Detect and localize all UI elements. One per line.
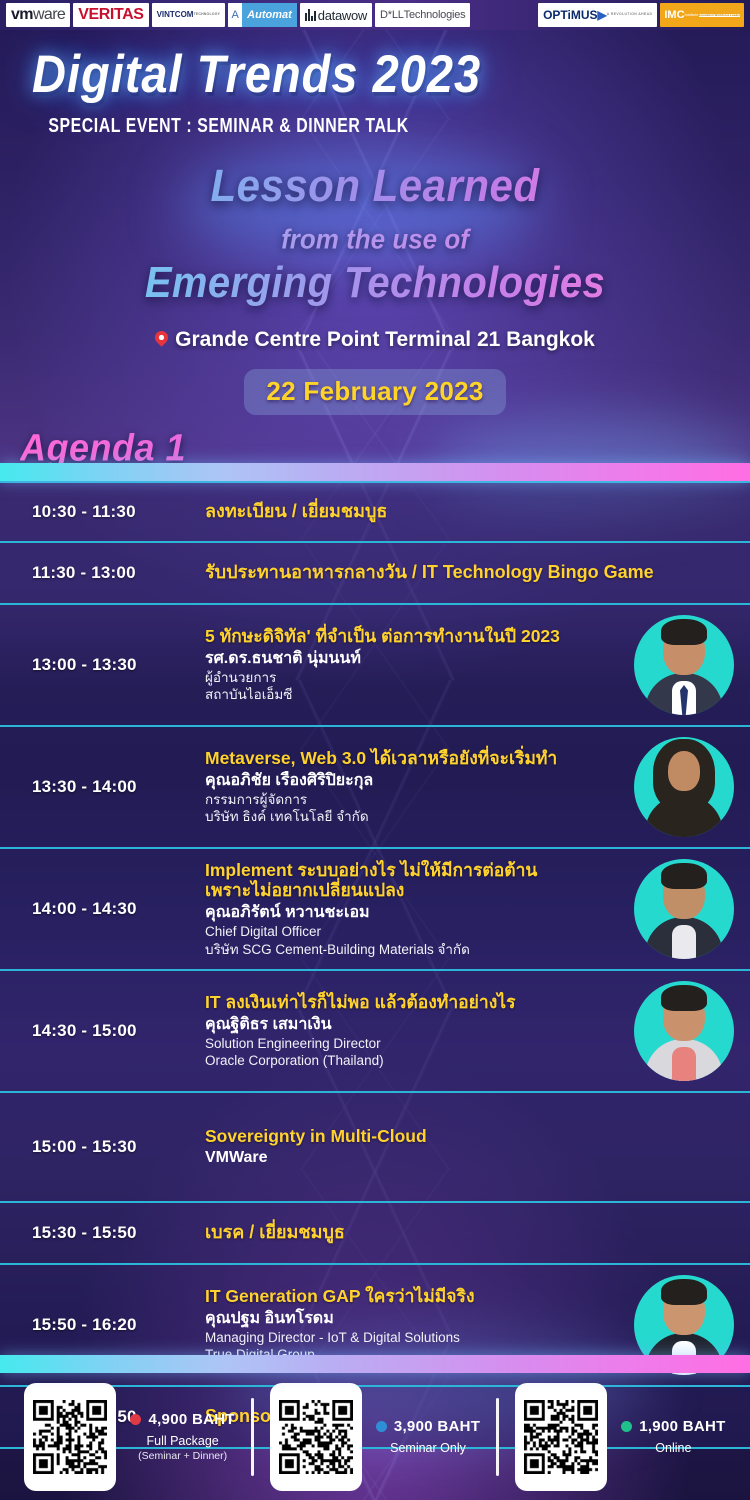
datawow-logo: datawow <box>300 3 372 27</box>
agenda-row-speaker-name: VMWare <box>205 1148 742 1168</box>
ticket-price-line: 4,900 BAHT <box>130 1411 234 1428</box>
agenda-row: 10:30 - 11:30ลงทะเบียน / เยี่ยมชมบูธ <box>0 481 750 543</box>
agenda-row-time: 14:00 - 14:30 <box>0 899 205 919</box>
event-subtitle: SPECIAL EVENT : SEMINAR & DINNER TALK <box>48 115 735 139</box>
sponsor-logo-bar: vmvmwareware VERITAS VINTCOM TECHNOLOGY … <box>0 0 750 30</box>
agenda-row-topic: Sovereignty in Multi-Cloud <box>205 1126 742 1147</box>
dell-logo-text: D*LL <box>380 9 404 21</box>
agenda-row-time: 11:30 - 13:00 <box>0 563 205 583</box>
vmware-logo: vmvmwareware <box>6 3 70 27</box>
agenda-row-speaker-name: คุณปฐม อินทโรดม <box>205 1309 626 1329</box>
agenda-row-topic: รับประทานอาหารกลางวัน / IT Technology Bi… <box>205 562 742 583</box>
headline-emerging-technologies: Emerging Technologies <box>0 259 750 308</box>
agenda-row-topic: Metaverse, Web 3.0 ได้เวลาหรือยังที่จะเร… <box>205 748 626 769</box>
agenda-row-body: ลงทะเบียน / เยี่ยมชมบูธ <box>205 501 750 522</box>
gradient-divider-bottom <box>0 1355 750 1373</box>
ticket-price-line: 1,900 BAHT <box>621 1418 725 1435</box>
agenda-row-speaker-role: Chief Digital Officer <box>205 923 626 941</box>
automat-logo-prefix: A <box>228 3 242 27</box>
vintcom-logo-sub: TECHNOLOGY <box>193 13 220 17</box>
ticket-option[interactable]: 4,900 BAHTFull Package(Seminar + Dinner) <box>8 1383 250 1491</box>
agenda-row: 15:30 - 15:50เบรค / เยี่ยมชมบูธ <box>0 1203 750 1265</box>
ticket-divider <box>496 1398 499 1476</box>
event-poster: vmvmwareware VERITAS VINTCOM TECHNOLOGY … <box>0 0 750 1500</box>
agenda-row: 14:30 - 15:00IT ลงเงินเท่าไรก็ไม่พอ แล้ว… <box>0 971 750 1093</box>
imc-logo-sub: Institute <box>685 13 699 17</box>
optimus-arrow-icon: ▶ <box>598 9 607 21</box>
vintcom-logo: VINTCOM TECHNOLOGY <box>152 3 226 27</box>
speaker-photo-apichai <box>634 737 734 837</box>
agenda-row: 11:30 - 13:00รับประทานอาหารกลางวัน / IT … <box>0 543 750 605</box>
agenda-row-time: 14:30 - 15:00 <box>0 1021 205 1041</box>
agenda-row: 15:00 - 15:30Sovereignty in Multi-CloudV… <box>0 1093 750 1203</box>
dell-technologies-logo: D*LLTechnologies <box>375 3 470 27</box>
agenda-row-body: Sovereignty in Multi-CloudVMWare <box>205 1126 750 1169</box>
agenda-row-time: 15:00 - 15:30 <box>0 1137 205 1157</box>
dell-logo-suffix: Technologies <box>404 9 466 21</box>
agenda-row: 13:30 - 14:00Metaverse, Web 3.0 ได้เวลาห… <box>0 727 750 849</box>
agenda-row-topic: IT ลงเงินเท่าไรก็ไม่พอ แล้วต้องทำอย่างไร <box>205 992 626 1013</box>
optimus-logo: OPTiMUS▶ A REVOLUTION AHEAD <box>538 3 657 27</box>
imc-logo-tagline: Innovation Workforce Leader <box>699 14 740 17</box>
headline-lesson-learned: Lesson Learned <box>0 160 750 212</box>
speaker-photo-thitithorn <box>634 981 734 1081</box>
ticket-note: (Seminar + Dinner) <box>130 1450 234 1462</box>
agenda-row-topic: Implement ระบบอย่างไร ไม่ให้มีการต่อต้าน… <box>205 860 626 901</box>
qr-code-seminar-only[interactable] <box>270 1383 362 1491</box>
speaker-photo-apirat <box>634 859 734 959</box>
ticket-info: 3,900 BAHTSeminar Only <box>376 1418 480 1455</box>
ticket-price: 4,900 BAHT <box>148 1411 234 1428</box>
qr-code-full-package[interactable] <box>24 1383 116 1491</box>
agenda-row-speaker-name: รศ.ดร.ธนชาติ นุ่มนนท์ <box>205 649 626 669</box>
automat-logo-text: Automat <box>242 3 297 27</box>
agenda-row-body: IT Generation GAP ใครว่าไม่มีจริงคุณปฐม … <box>205 1286 634 1364</box>
agenda-row-topic: ลงทะเบียน / เยี่ยมชมบูธ <box>205 501 742 522</box>
ticket-divider <box>251 1398 254 1476</box>
vintcom-logo-text: VINTCOM <box>157 11 194 19</box>
veritas-logo-text: VERITAS <box>78 6 143 24</box>
agenda-row-speaker-org: Oracle Corporation (Thailand) <box>205 1052 626 1070</box>
agenda-row-speaker-name: คุณอภิรัตน์ หวานชะเอม <box>205 903 626 923</box>
ticket-color-dot-icon <box>621 1421 632 1432</box>
agenda-row: 14:00 - 14:30Implement ระบบอย่างไร ไม่ให… <box>0 849 750 971</box>
qr-code-online[interactable] <box>515 1383 607 1491</box>
event-date-badge: 22 February 2023 <box>244 369 505 415</box>
agenda-row-speaker-role: Managing Director - IoT & Digital Soluti… <box>205 1329 626 1347</box>
agenda-row-topic: เบรค / เยี่ยมชมบูธ <box>205 1222 742 1243</box>
agenda-row-time: 15:50 - 16:20 <box>0 1315 205 1335</box>
agenda-row-speaker-role: ผู้อำนวยการ <box>205 669 626 687</box>
datawow-logo-text: datawow <box>318 8 367 23</box>
agenda-row-speaker-org: บริษัท ธิงค์ เทคโนโลยี จำกัด <box>205 808 626 826</box>
agenda-row-speaker-role: Solution Engineering Director <box>205 1035 626 1053</box>
agenda-row-body: Metaverse, Web 3.0 ได้เวลาหรือยังที่จะเร… <box>205 748 634 826</box>
ticket-name: Seminar Only <box>376 1441 480 1455</box>
poster-header: Digital Trends 2023 SPECIAL EVENT : SEMI… <box>0 30 750 469</box>
ticket-price: 3,900 BAHT <box>394 1418 480 1435</box>
agenda-table: 10:30 - 11:30ลงทะเบียน / เยี่ยมชมบูธ11:3… <box>0 481 750 1449</box>
ticket-price: 1,900 BAHT <box>639 1418 725 1435</box>
agenda-row-body: IT ลงเงินเท่าไรก็ไม่พอ แล้วต้องทำอย่างไร… <box>205 992 634 1070</box>
ticket-option[interactable]: 3,900 BAHTSeminar Only <box>254 1383 496 1491</box>
page-title: Digital Trends 2023 <box>32 43 750 105</box>
speaker-photo-thanachart <box>634 615 734 715</box>
agenda-row-body: รับประทานอาหารกลางวัน / IT Technology Bi… <box>205 562 750 583</box>
ticket-name: Online <box>621 1441 725 1455</box>
agenda-row-time: 13:30 - 14:00 <box>0 777 205 797</box>
ticket-info: 1,900 BAHTOnline <box>621 1418 725 1455</box>
ticket-pricing-footer: 4,900 BAHTFull Package(Seminar + Dinner)… <box>0 1373 750 1500</box>
agenda-row-speaker-name: คุณอภิชัย เรืองศิริปิยะกุล <box>205 771 626 791</box>
automat-logo: A Automat <box>228 3 297 27</box>
agenda-row-topic: IT Generation GAP ใครว่าไม่มีจริง <box>205 1286 626 1307</box>
gradient-divider-top <box>0 463 750 481</box>
agenda-row-speaker-org: บริษัท SCG Cement-Building Materials จำก… <box>205 941 626 959</box>
ticket-option[interactable]: 1,900 BAHTOnline <box>499 1383 741 1491</box>
datawow-bars-icon <box>305 9 316 21</box>
agenda-row-speaker-name: คุณฐิติธร เสมาเงิน <box>205 1015 626 1035</box>
agenda-row-time: 15:30 - 15:50 <box>0 1223 205 1243</box>
location-pin-icon <box>155 331 168 349</box>
ticket-price-line: 3,900 BAHT <box>376 1418 480 1435</box>
optimus-logo-sub: A REVOLUTION AHEAD <box>607 13 653 16</box>
imc-institute-logo: IMC Institute Innovation Workforce Leade… <box>660 3 744 27</box>
agenda-row: 13:00 - 13:305 ทักษะดิจิทัล' ที่จำเป็น ต… <box>0 605 750 727</box>
agenda-row-speaker-org: สถาบันไอเอ็มซี <box>205 686 626 704</box>
ticket-name: Full Package <box>130 1434 234 1448</box>
venue-line: Grande Centre Point Terminal 21 Bangkok <box>0 328 750 352</box>
agenda-row-speaker-role: กรรมการผู้จัดการ <box>205 791 626 809</box>
agenda-row-body: 5 ทักษะดิจิทัล' ที่จำเป็น ต่อการทำงานในป… <box>205 626 634 704</box>
agenda-row-time: 13:00 - 13:30 <box>0 655 205 675</box>
agenda-row-time: 10:30 - 11:30 <box>0 502 205 522</box>
agenda-row-topic: 5 ทักษะดิจิทัล' ที่จำเป็น ต่อการทำงานในป… <box>205 626 626 647</box>
veritas-logo: VERITAS <box>73 3 148 27</box>
optimus-logo-text: OPTiMUS <box>543 8 597 22</box>
headline-from-the-use-of: from the use of <box>0 223 750 256</box>
ticket-info: 4,900 BAHTFull Package(Seminar + Dinner) <box>130 1411 234 1462</box>
venue-text: Grande Centre Point Terminal 21 Bangkok <box>175 328 595 352</box>
agenda-row-body: Implement ระบบอย่างไร ไม่ให้มีการต่อต้าน… <box>205 860 634 958</box>
ticket-color-dot-icon <box>376 1421 387 1432</box>
imc-logo-text: IMC <box>664 10 684 21</box>
ticket-color-dot-icon <box>130 1414 141 1425</box>
agenda-row-body: เบรค / เยี่ยมชมบูธ <box>205 1222 750 1243</box>
